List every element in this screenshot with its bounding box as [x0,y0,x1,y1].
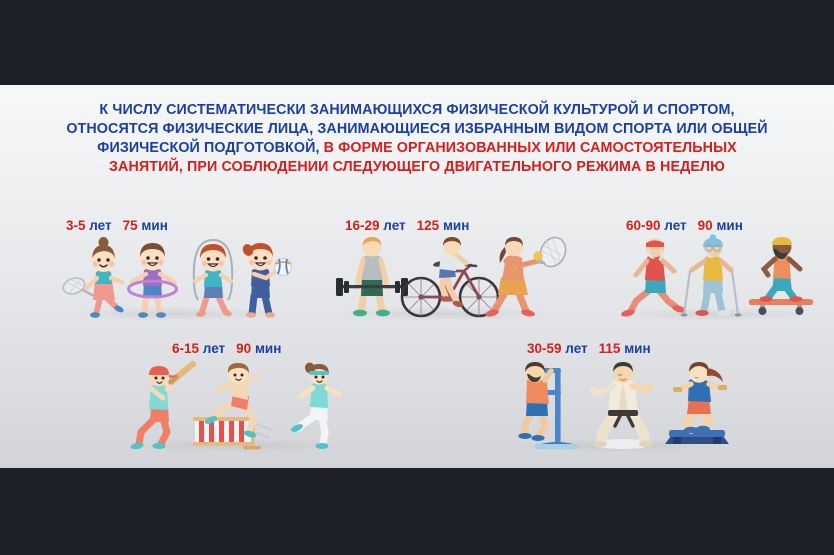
minutes-unit-16-29: мин [443,218,469,233]
age-unit-6-15: лет [203,341,225,356]
skateboard-icon [749,299,814,315]
figure-weightlifting [332,235,412,318]
age-unit-30-59: лет [565,341,587,356]
group-label-age-3-5: 3-5 лет75 мин [66,218,168,233]
figure-running [285,362,353,450]
minutes-value-6-15: 90 [236,341,251,356]
age-value-6-15: 6-15 [172,341,199,356]
volleyball-icon [275,259,292,276]
title-line-2: ОТНОСЯТСЯ ФИЗИЧЕСКИЕ ЛИЦА, ЗАНИМАЮЩИЕСЯ … [0,120,834,139]
illustration-group-age-16-29 [330,235,570,318]
age-value-60-90: 60-90 [626,218,661,233]
minutes-value-3-5: 75 [123,218,138,233]
age-unit-60-90: лет [664,218,686,233]
age-value-3-5: 3-5 [66,218,86,233]
minutes-value-16-29: 125 [417,218,440,233]
figure-karate [581,360,665,450]
minutes-unit-60-90: мин [716,218,742,233]
step-platform-icon [665,430,729,444]
group-label-age-60-90: 60-90 лет90 мин [626,218,743,233]
figure-tennis [482,235,570,318]
figure-hurdles [191,362,287,450]
title-line-1: К ЧИСЛУ СИСТЕМАТИЧЕСКИ ЗАНИМАЮЩИХСЯ ФИЗИ… [0,101,834,120]
tennis-racket-icon [536,233,570,270]
illustration-group-age-30-59 [505,360,737,450]
slide-frame: К ЧИСЛУ СИСТЕМАТИЧЕСКИ ЗАНИМАЮЩИХСЯ ФИЗИ… [0,0,834,555]
age-value-30-59: 30-59 [527,341,562,356]
title-line-4: ЗАНЯТИЙ, ПРИ СОБЛЮДЕНИИ СЛЕДУЮЩЕГО ДВИГА… [0,158,834,177]
figure-pull-up-bar [505,360,591,450]
minutes-unit-6-15: мин [255,341,281,356]
figure-volleyball [236,238,292,318]
title-line-3-red: В ФОРМЕ ОРГАНИЗОВАННЫХ ИЛИ САМОСТОЯТЕЛЬН… [320,140,737,156]
figure-skateboarding [742,237,824,318]
title-line-3: ФИЗИЧЕСКОЙ ПОДГОТОВКОЙ, В ФОРМЕ ОРГАНИЗО… [0,139,834,158]
illustration-group-age-60-90 [616,237,826,318]
motion-lines [255,424,271,438]
group-label-age-16-29: 16-29 лет125 мин [345,218,469,233]
minutes-value-30-59: 115 [599,341,621,356]
illustration-group-age-3-5 [60,238,290,318]
age-unit-16-29: лет [383,218,405,233]
group-label-age-6-15: 6-15 лет90 мин [172,341,281,356]
age-unit-3-5: лет [89,218,111,233]
group-label-age-30-59: 30-59 лет115 мин [527,341,651,356]
figure-hula-hoop [122,238,184,318]
figure-jump-rope [182,238,244,318]
illustration-group-age-6-15 [125,362,355,450]
figure-step-aerobics [661,360,737,450]
minutes-value-60-90: 90 [698,218,713,233]
minutes-unit-3-5: мин [141,218,167,233]
age-value-16-29: 16-29 [345,218,380,233]
minutes-unit-30-59: мин [624,341,650,356]
tennis-ball-icon [533,251,542,260]
baseball-bat-icon [171,364,193,382]
slide-canvas: К ЧИСЛУ СИСТЕМАТИЧЕСКИ ЗАНИМАЮЩИХСЯ ФИЗИ… [0,85,834,468]
page-title: К ЧИСЛУ СИСТЕМАТИЧЕСКИ ЗАНИМАЮЩИХСЯ ФИЗИ… [0,101,834,177]
title-line-3-blue: ФИЗИЧЕСКОЙ ПОДГОТОВКОЙ, [97,140,319,156]
